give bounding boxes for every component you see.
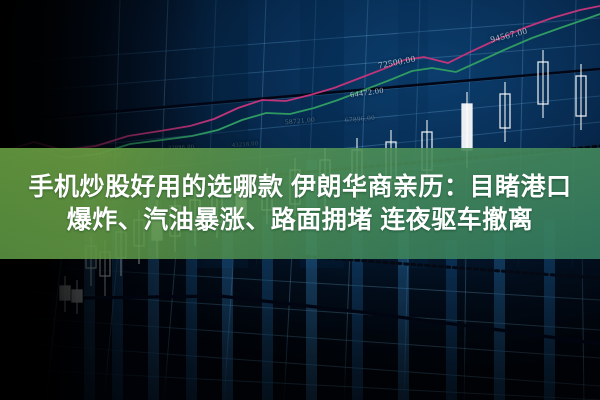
- headline-line-1: 手机炒股好用的选哪款 伊朗华商亲历：目睹港口: [29, 173, 572, 201]
- headline-text-block: 手机炒股好用的选哪款 伊朗华商亲历：目睹港口 爆炸、汽油暴涨、路面拥堵 连夜驱车…: [0, 148, 600, 259]
- news-thumbnail-image: 94567.0072500.0064472.0058721.0067896.00…: [0, 0, 600, 400]
- headline-line-2: 爆炸、汽油暴涨、路面拥堵 连夜驱车撤离: [67, 206, 533, 234]
